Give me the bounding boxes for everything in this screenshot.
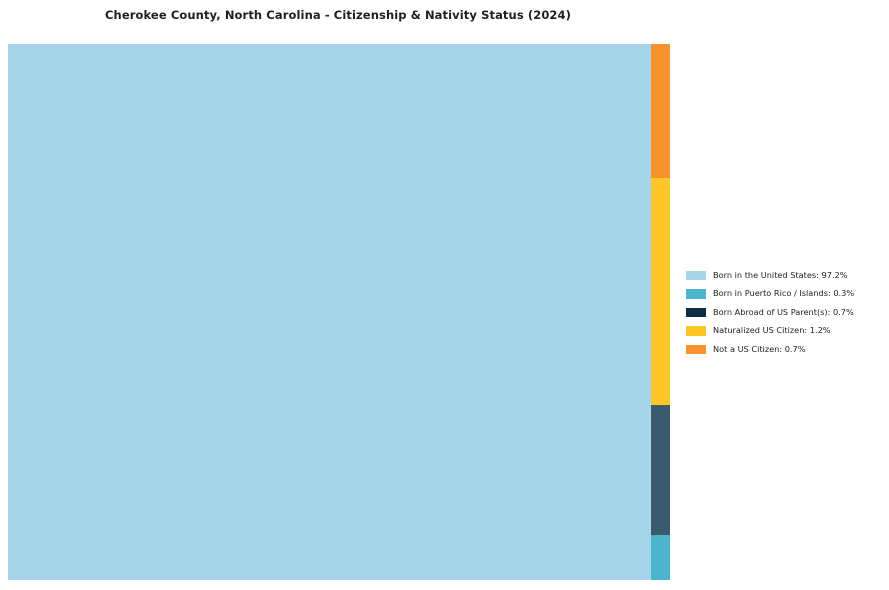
legend-item[interactable]: Born in the United States: 97.2% [686, 266, 882, 285]
chart-legend: Born in the United States: 97.2%Born in … [686, 266, 882, 359]
legend-swatch [686, 289, 706, 299]
treemap-plot-area [8, 44, 670, 580]
legend-item[interactable]: Naturalized US Citizen: 1.2% [686, 322, 882, 341]
chart-figure: Cherokee County, North Carolina - Citize… [0, 0, 889, 590]
legend-swatch [686, 326, 706, 336]
legend-item[interactable]: Born Abroad of US Parent(s): 0.7% [686, 303, 882, 322]
legend-label: Born Abroad of US Parent(s): 0.7% [713, 308, 854, 317]
treemap-tile[interactable] [651, 405, 670, 535]
treemap-tile[interactable] [651, 178, 670, 405]
treemap-tile[interactable] [651, 535, 670, 580]
legend-swatch [686, 308, 706, 318]
legend-label: Born in the United States: 97.2% [713, 271, 848, 280]
chart-title: Cherokee County, North Carolina - Citize… [0, 8, 676, 22]
legend-label: Naturalized US Citizen: 1.2% [713, 326, 831, 335]
legend-label: Not a US Citizen: 0.7% [713, 345, 806, 354]
legend-swatch [686, 345, 706, 355]
legend-swatch [686, 271, 706, 281]
legend-item[interactable]: Not a US Citizen: 0.7% [686, 340, 882, 359]
legend-item[interactable]: Born in Puerto Rico / Islands: 0.3% [686, 285, 882, 304]
treemap-tile[interactable] [651, 44, 670, 178]
legend-label: Born in Puerto Rico / Islands: 0.3% [713, 289, 854, 298]
treemap-tile[interactable] [8, 44, 651, 580]
